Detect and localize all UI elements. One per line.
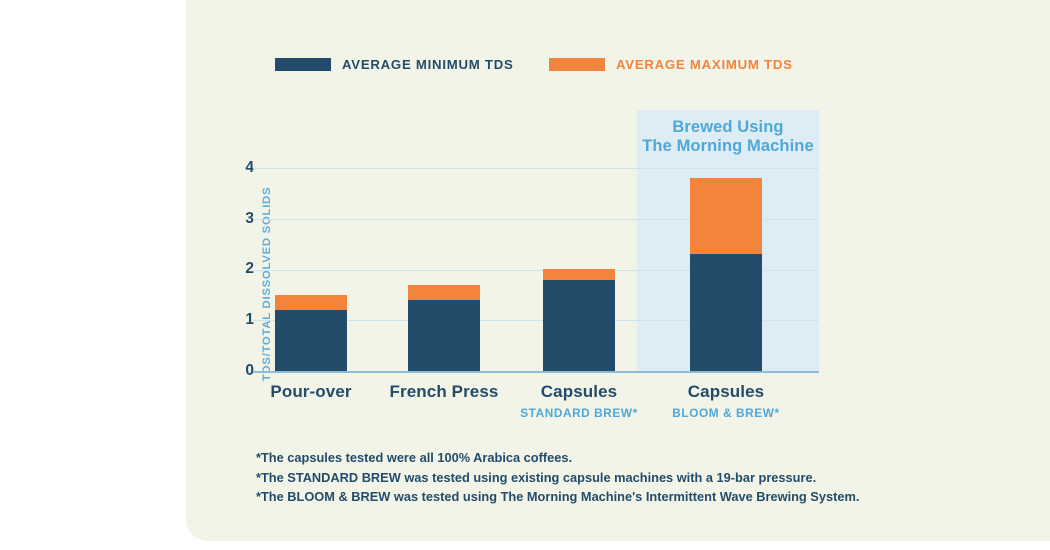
legend-swatch-max-icon: [549, 58, 605, 71]
y-axis-title-wrap: TDS/TOTAL DISSOLVED SOLIDS: [214, 168, 215, 371]
bar-group-capsules-bloom-brew[interactable]: [690, 178, 762, 371]
x-label-capsules-bloom-brew: Capsules BLOOM & BREW*: [626, 381, 826, 423]
x-label-capsules-bloom-sub: BLOOM & BREW*: [626, 403, 826, 423]
gridline-4: [253, 168, 819, 169]
legend-item-average-maximum-tds: AVERAGE MAXIMUM TDS: [549, 52, 793, 76]
footnotes: *The capsules tested were all 100% Arabi…: [256, 448, 956, 507]
x-label-capsules-bloom-main: Capsules: [626, 381, 826, 403]
y-tick-0: 0: [228, 363, 254, 379]
y-tick-2: 2: [228, 261, 254, 277]
bar-segment-max-pour-over: [275, 295, 347, 310]
bar-segment-max-capsules-standard-brew: [543, 269, 615, 279]
footnote-2: *The STANDARD BREW was tested using exis…: [256, 468, 956, 488]
bar-group-pour-over[interactable]: [275, 295, 347, 371]
highlight-caption-line1: Brewed Using: [672, 118, 783, 136]
x-axis-baseline: [253, 371, 819, 373]
legend-label-max: AVERAGE MAXIMUM TDS: [616, 57, 793, 72]
footnote-3: *The BLOOM & BREW was tested using The M…: [256, 487, 956, 507]
plot-area: [253, 168, 819, 371]
highlight-caption: Brewed Using The Morning Machine: [637, 118, 819, 156]
y-tick-3: 3: [228, 211, 254, 227]
legend-swatch-min-icon: [275, 58, 331, 71]
footnote-1: *The capsules tested were all 100% Arabi…: [256, 448, 956, 468]
chart-legend: AVERAGE MINIMUM TDS AVERAGE MAXIMUM TDS: [0, 52, 1050, 76]
legend-label-min: AVERAGE MINIMUM TDS: [342, 57, 514, 72]
bar-segment-min-capsules-standard-brew: [543, 280, 615, 371]
y-tick-1: 1: [228, 312, 254, 328]
bar-group-capsules-standard-brew[interactable]: [543, 269, 615, 371]
bar-segment-min-french-press: [408, 300, 480, 371]
bar-segment-max-capsules-bloom-brew: [690, 178, 762, 254]
bar-group-french-press[interactable]: [408, 285, 480, 371]
highlight-caption-line2: The Morning Machine: [642, 137, 813, 155]
bar-segment-min-capsules-bloom-brew: [690, 254, 762, 371]
bar-segment-max-french-press: [408, 285, 480, 300]
legend-item-average-minimum-tds: AVERAGE MINIMUM TDS: [275, 52, 514, 76]
bar-segment-min-pour-over: [275, 310, 347, 371]
y-tick-4: 4: [228, 160, 254, 176]
